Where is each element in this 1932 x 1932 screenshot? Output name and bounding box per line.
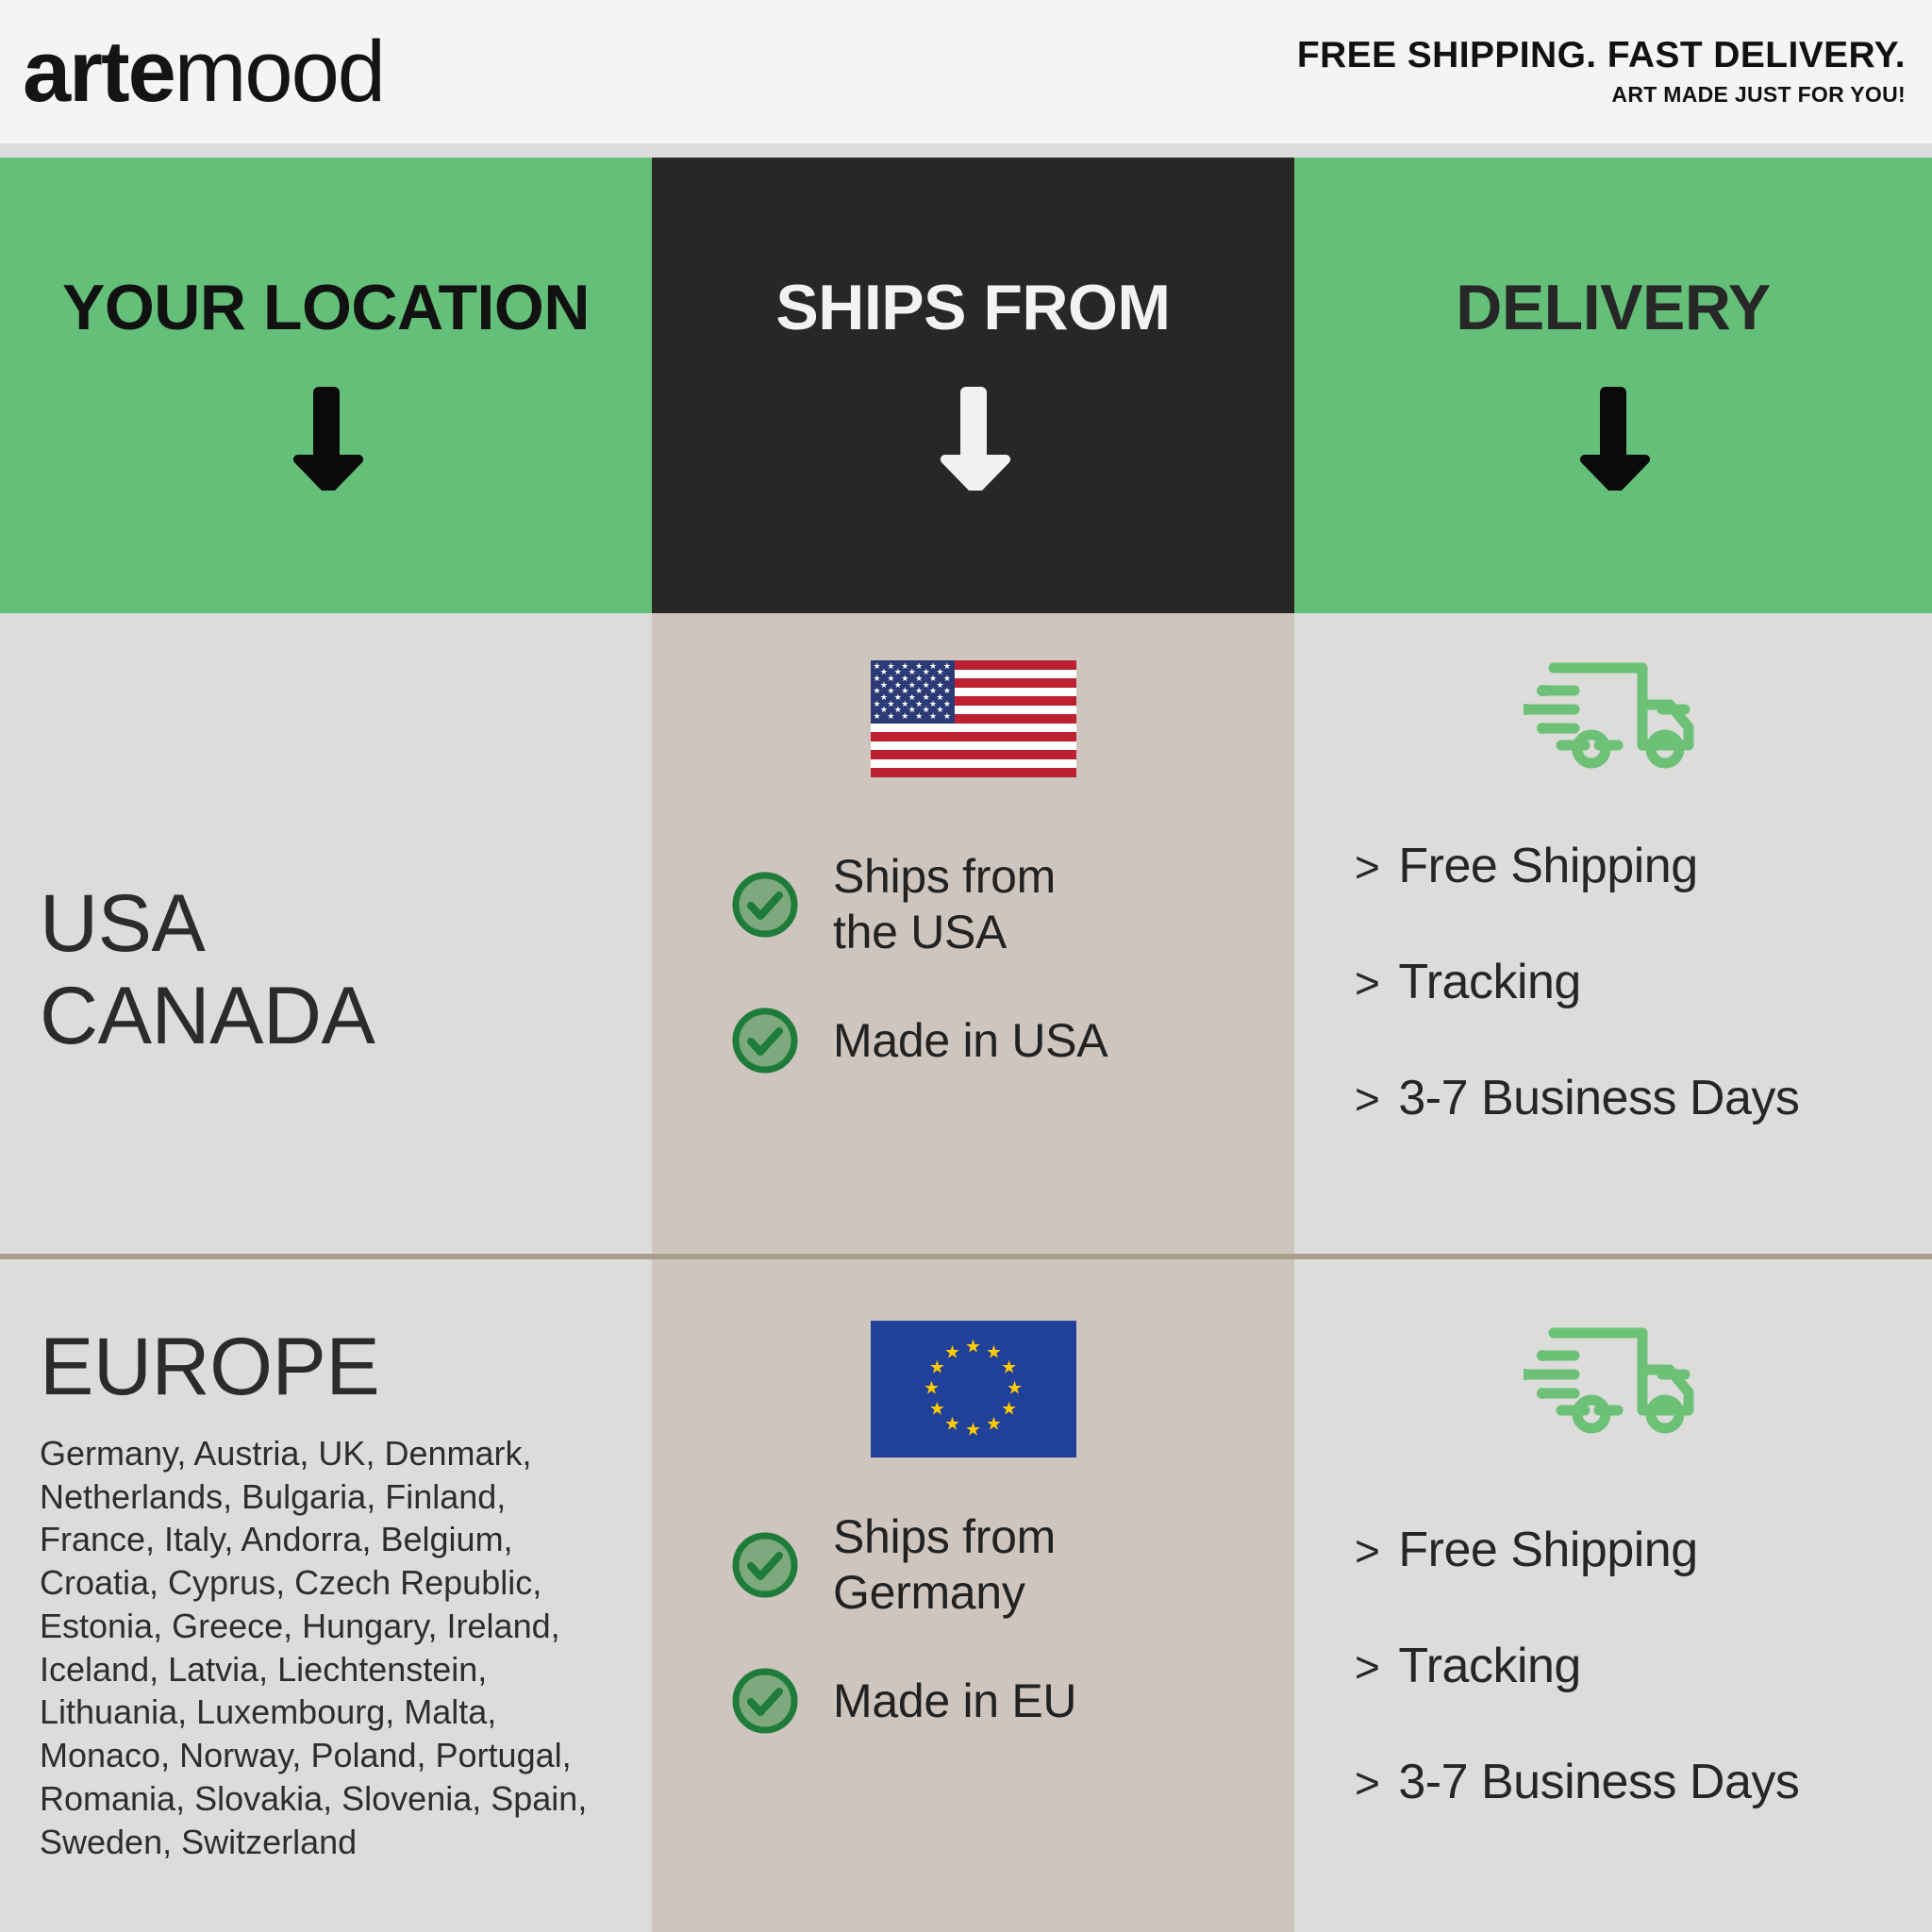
check-circle-icon (729, 1529, 801, 1601)
eu-flag-icon: ★★★★★★★★★★★★ (871, 1321, 1076, 1457)
list-item: > Tracking (1355, 1640, 1913, 1693)
delivery-label: 3-7 Business Days (1398, 1756, 1799, 1809)
shipping-info-infographic: artemood FREE SHIPPING. FAST DELIVERY. A… (0, 0, 1932, 1932)
shipsfrom-label: Made in USA (833, 1013, 1108, 1069)
delivery-label: Free Shipping (1398, 1524, 1697, 1577)
arrow-down-icon (928, 381, 1019, 495)
chevron-right-icon: > (1355, 1527, 1379, 1575)
shipsfrom-label: Ships from the USA (833, 849, 1056, 959)
list-item: > Tracking (1355, 956, 1913, 1009)
delivery-truck-icon (1524, 651, 1703, 776)
tagline-sub: ART MADE JUST FOR YOU! (1297, 83, 1906, 106)
list-item: Made in EU (729, 1665, 1266, 1737)
check-circle-icon (729, 869, 801, 941)
eu-flag-container: ★★★★★★★★★★★★ (652, 1321, 1294, 1457)
list-item: > 3-7 Business Days (1355, 1072, 1913, 1125)
list-item: > 3-7 Business Days (1355, 1756, 1913, 1809)
arrow-down-icon (1568, 381, 1658, 495)
shipsfrom-label: Made in EU (833, 1674, 1076, 1729)
shipsfrom-header-title: SHIPS FROM (775, 275, 1170, 340)
list-item: Ships from Germany (729, 1509, 1266, 1620)
delivery-list-usa: > Free Shipping > Tracking > 3-7 Busines… (1294, 840, 1932, 1189)
column-header-delivery: DELIVERY (1294, 158, 1932, 613)
chevron-right-icon: > (1355, 1759, 1379, 1807)
list-item: Made in USA (729, 1005, 1266, 1076)
delivery-truck-container-europe (1294, 1316, 1932, 1441)
delivery-list-europe: > Free Shipping > Tracking > 3-7 Busines… (1294, 1524, 1932, 1873)
column-header-location: YOUR LOCATION (0, 158, 652, 613)
logo-bold-part: arte (23, 28, 175, 115)
location-cell-europe: EUROPE Germany, Austria, UK, Denmark, Ne… (0, 1321, 652, 1863)
location-name: USA CANADA (40, 877, 627, 1062)
tagline-main: FREE SHIPPING. FAST DELIVERY. (1297, 37, 1906, 75)
shipsfrom-list-europe: Ships from Germany Made in EU (652, 1509, 1294, 1782)
row-divider (0, 1254, 1932, 1259)
location-cell-usa: USA CANADA (0, 877, 652, 1062)
brand-header: artemood FREE SHIPPING. FAST DELIVERY. A… (0, 0, 1932, 143)
shipsfrom-label: Ships from Germany (833, 1509, 1056, 1620)
chevron-right-icon: > (1355, 843, 1379, 891)
logo-light-part: mood (175, 28, 384, 115)
tagline-block: FREE SHIPPING. FAST DELIVERY. ART MADE J… (1297, 37, 1906, 106)
location-header-title: YOUR LOCATION (62, 275, 590, 340)
chevron-right-icon: > (1355, 1643, 1379, 1691)
delivery-label: Tracking (1398, 1640, 1580, 1693)
delivery-header-title: DELIVERY (1456, 275, 1771, 340)
delivery-label: Tracking (1398, 956, 1580, 1009)
arrow-down-icon (281, 381, 372, 495)
delivery-truck-icon (1524, 1316, 1703, 1441)
check-circle-icon (729, 1665, 801, 1737)
header-rule (0, 143, 1932, 158)
delivery-label: Free Shipping (1398, 840, 1697, 893)
delivery-label: 3-7 Business Days (1398, 1072, 1799, 1125)
list-item: Ships from the USA (729, 849, 1266, 959)
country-list: Germany, Austria, UK, Denmark, Netherlan… (40, 1432, 625, 1863)
check-circle-icon (729, 1005, 801, 1076)
list-item: > Free Shipping (1355, 1524, 1913, 1577)
usa-flag-icon: ★★★★★★★★★★★★★★★★★★★★★★★★★★★★★★★★★★★★★★★★… (871, 660, 1076, 777)
shipsfrom-list-usa: Ships from the USA Made in USA (652, 849, 1294, 1122)
usa-flag-container: ★★★★★★★★★★★★★★★★★★★★★★★★★★★★★★★★★★★★★★★★… (652, 660, 1294, 777)
delivery-truck-container-usa (1294, 651, 1932, 776)
list-item: > Free Shipping (1355, 840, 1913, 893)
chevron-right-icon: > (1355, 959, 1379, 1008)
location-name: EUROPE (40, 1321, 627, 1413)
column-header-shipsfrom: SHIPS FROM (652, 158, 1294, 613)
chevron-right-icon: > (1355, 1075, 1379, 1124)
artemood-logo: artemood (23, 28, 384, 115)
